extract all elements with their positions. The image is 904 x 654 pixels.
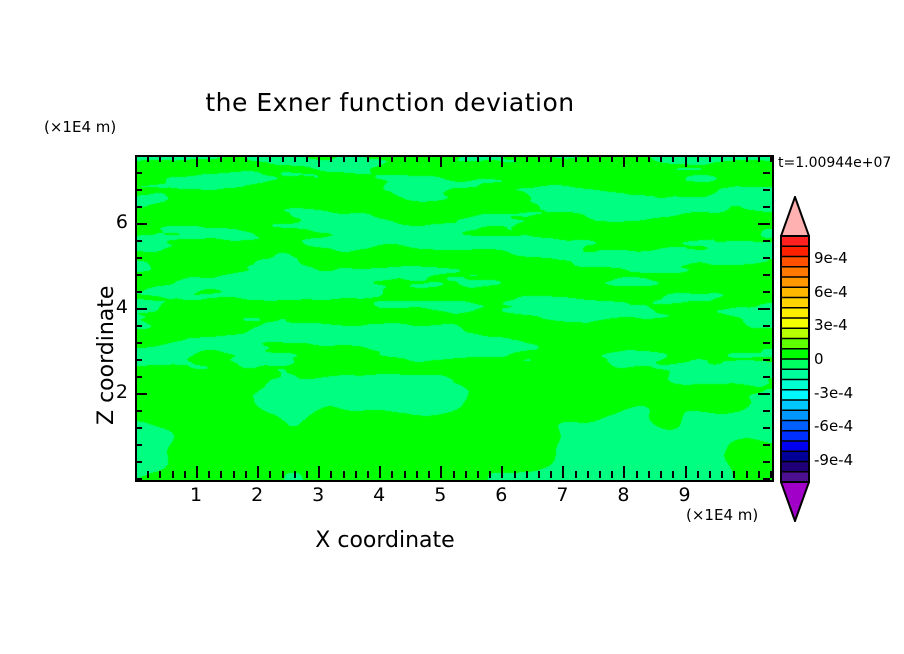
y-tick-label: 6 [104,211,128,233]
x-tick-label: 3 [303,484,333,506]
colorbar-tick-label: 9e-4 [814,249,848,267]
x-axis-title: X coordinate [0,528,770,553]
colorbar-tick-label: -9e-4 [814,451,853,469]
colorbar-tick-label: -3e-4 [814,384,853,402]
time-annotation: t=1.00944e+07 [778,155,891,171]
colorbar [780,196,810,522]
x-axis-units-label: (×1E4 m) [686,506,758,524]
x-tick-label: 1 [181,484,211,506]
plot-area [135,155,774,482]
y-axis-units-label: (×1E4 m) [44,118,116,136]
y-axis-title: Z coordinate [94,286,119,425]
colorbar-gradient [780,196,810,522]
x-tick-label: 9 [670,484,700,506]
x-tick-label: 7 [547,484,577,506]
x-tick-label: 2 [242,484,272,506]
colorbar-tick-label: 3e-4 [814,316,848,334]
x-tick-label: 6 [486,484,516,506]
colorbar-tick-label: 0 [814,350,824,368]
contour-field [137,157,772,480]
colorbar-tick-label: 6e-4 [814,283,848,301]
x-tick-label: 4 [364,484,394,506]
page-title: the Exner function deviation [0,88,780,117]
x-tick-label: 5 [425,484,455,506]
colorbar-tick-label: -6e-4 [814,417,853,435]
x-tick-label: 8 [608,484,638,506]
